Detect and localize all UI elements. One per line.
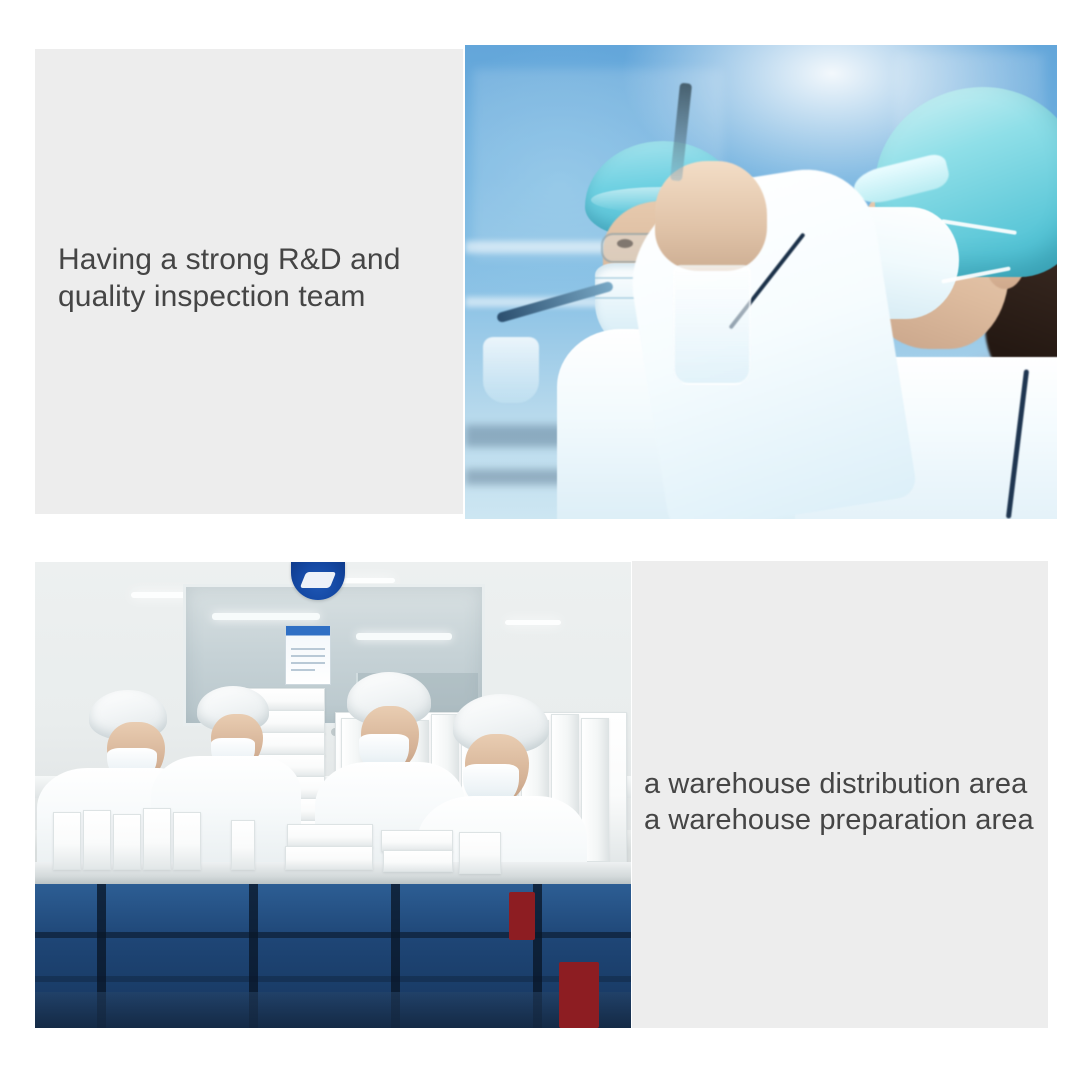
ceiling-lamp: [212, 613, 320, 620]
flask-icon: [673, 265, 751, 385]
section-rd-quality: Having a strong R&D and quality inspecti…: [0, 0, 1080, 530]
carton: [173, 812, 201, 870]
carton: [113, 814, 141, 870]
carton: [285, 846, 373, 870]
caption-rd-quality: Having a strong R&D and quality inspecti…: [58, 241, 458, 315]
red-garment: [559, 962, 599, 1028]
photo-lab-inspection: [465, 45, 1057, 519]
caption-panel-bottom: a warehouse distribution area a warehous…: [632, 561, 1048, 1028]
page-root: Having a strong R&D and quality inspecti…: [0, 0, 1080, 1080]
carton: [83, 810, 111, 870]
table-rail: [35, 976, 631, 982]
carton: [287, 824, 373, 848]
photo-warehouse-packing: [35, 562, 631, 1028]
carton: [53, 812, 81, 870]
table-rail: [35, 932, 631, 938]
flask-icon: [483, 337, 539, 403]
floor: [35, 992, 631, 1028]
carton: [143, 808, 171, 870]
carton: [231, 820, 255, 870]
caption-panel-top: Having a strong R&D and quality inspecti…: [35, 49, 463, 514]
ceiling-lamp: [356, 633, 452, 640]
red-garment: [509, 892, 535, 940]
carton: [459, 832, 501, 874]
ceiling-lamp: [505, 620, 561, 625]
carton: [381, 830, 453, 852]
carton: [383, 850, 453, 872]
section-warehouse-areas: a warehouse distribution area a warehous…: [0, 530, 1080, 1080]
caption-warehouse-areas: a warehouse distribution area a warehous…: [644, 766, 1048, 838]
